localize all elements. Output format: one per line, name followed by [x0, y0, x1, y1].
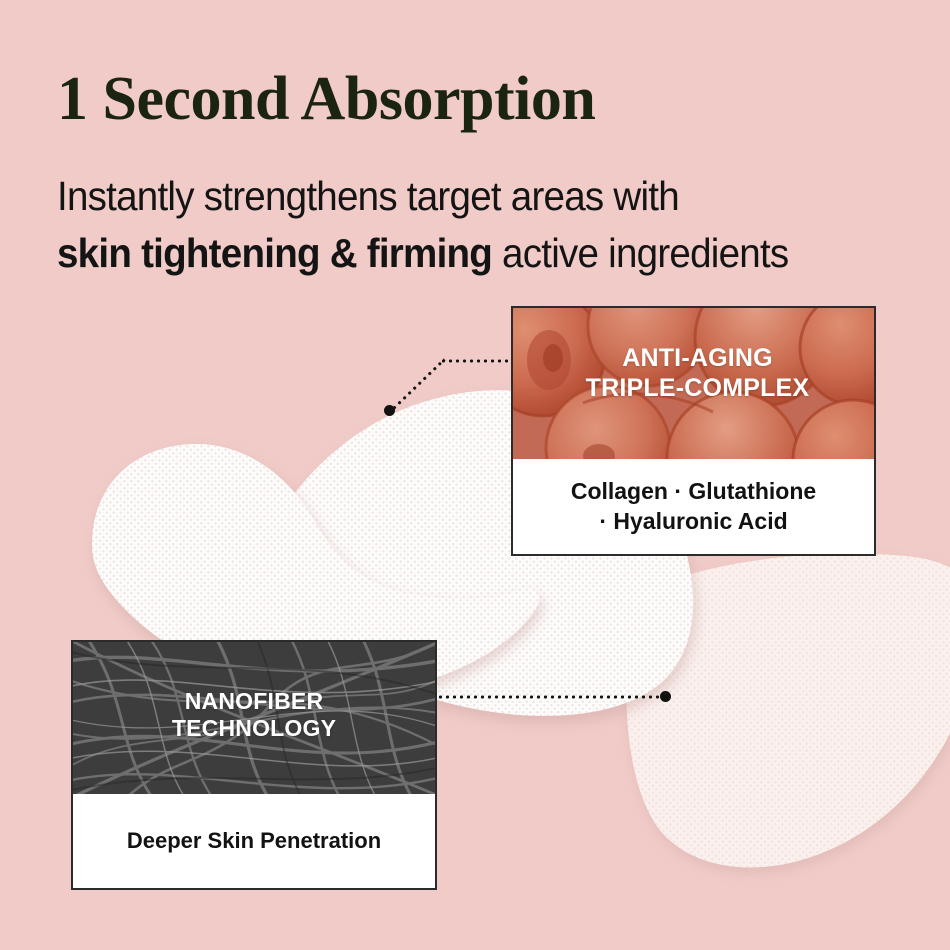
subtitle-line-2: skin tightening & firming active ingredi… — [57, 225, 865, 282]
overlay-title-line-1: NANOFIBER — [73, 688, 435, 715]
caption-line-1: Deeper Skin Penetration — [127, 827, 381, 856]
card-image-nanofiber: NANOFIBER TECHNOLOGY — [73, 642, 435, 794]
card-caption-anti-aging: Collagen · Glutathione · Hyaluronic Acid — [513, 459, 874, 554]
card-caption-nanofiber: Deeper Skin Penetration — [73, 794, 435, 888]
product-marketing-image: 1 Second Absorption Instantly strengthen… — [0, 0, 950, 950]
overlay-title-line-1: ANTI-AGING — [517, 344, 874, 374]
overlay-title-line-2: TRIPLE-COMPLEX — [517, 374, 874, 404]
card-image-capsules: ANTI-AGING TRIPLE-COMPLEX — [513, 308, 874, 459]
caption-line-2: · Hyaluronic Acid — [571, 507, 816, 537]
subtitle-emphasis: skin tightening & firming — [57, 230, 492, 276]
overlay-title-line-2: TECHNOLOGY — [73, 715, 435, 742]
page-subtitle: Instantly strengthens target areas with … — [57, 168, 865, 281]
callout-card-nanofiber[interactable]: NANOFIBER TECHNOLOGY Deeper Skin Penetra… — [71, 640, 437, 890]
card-overlay-title-anti-aging: ANTI-AGING TRIPLE-COMPLEX — [513, 344, 874, 403]
card-overlay-title-nanofiber: NANOFIBER TECHNOLOGY — [73, 688, 435, 742]
page-title: 1 Second Absorption — [57, 68, 897, 130]
connector-segment-horizontal-anti-aging — [440, 359, 516, 363]
callout-card-anti-aging[interactable]: ANTI-AGING TRIPLE-COMPLEX Collagen · Glu… — [511, 306, 876, 556]
subtitle-line-2-rest: active ingredients — [492, 230, 788, 276]
caption-line-1: Collagen · Glutathione — [571, 477, 816, 507]
connector-segment-horizontal-nanofiber — [437, 695, 665, 699]
connector-dot-nanofiber — [660, 691, 671, 702]
subtitle-line-1: Instantly strengthens target areas with — [57, 168, 865, 225]
